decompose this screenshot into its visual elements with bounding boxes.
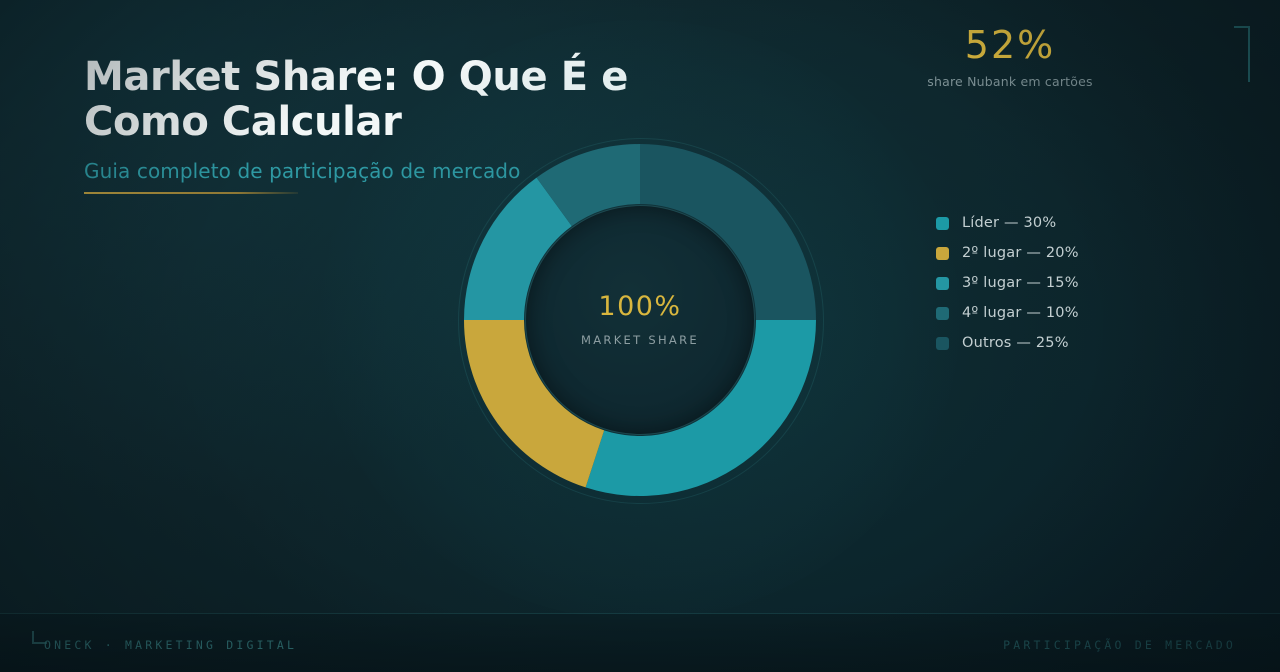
donut-chart: 100% MARKET SHARE <box>440 130 840 510</box>
subtitle-underline-accent <box>84 192 298 194</box>
legend-item-label: 4º lugar — 10% <box>962 305 1079 321</box>
donut-center: 100% MARKET SHARE <box>525 205 755 435</box>
footer-topic: PARTICIPAÇÃO DE MERCADO <box>1003 638 1236 652</box>
legend-item-label: Líder — 30% <box>962 215 1056 231</box>
chart-legend: Líder — 30% 2º lugar — 20% 3º lugar — 15… <box>936 208 1079 358</box>
footer-bar: ONECK · MARKETING DIGITAL PARTICIPAÇÃO D… <box>0 614 1280 672</box>
legend-item[interactable]: Outros — 25% <box>936 328 1079 358</box>
legend-swatch-icon <box>936 337 949 350</box>
footer-brand: ONECK · MARKETING DIGITAL <box>44 638 297 652</box>
donut-center-value: 100% <box>598 293 681 320</box>
legend-item[interactable]: 2º lugar — 20% <box>936 238 1079 268</box>
legend-item[interactable]: 3º lugar — 15% <box>936 268 1079 298</box>
legend-item[interactable]: 4º lugar — 10% <box>936 298 1079 328</box>
donut-center-label: MARKET SHARE <box>581 333 699 347</box>
legend-item[interactable]: Líder — 30% <box>936 208 1079 238</box>
corner-bracket-decoration <box>1234 26 1250 82</box>
legend-swatch-icon <box>936 307 949 320</box>
stat-caption: share Nubank em cartões <box>900 74 1120 89</box>
slide-canvas: Market Share: O Que É e Como Calcular Gu… <box>0 0 1280 672</box>
stat-block: 52% share Nubank em cartões <box>900 26 1120 89</box>
legend-item-label: 2º lugar — 20% <box>962 245 1079 261</box>
legend-swatch-icon <box>936 247 949 260</box>
stat-value: 52% <box>900 26 1120 64</box>
legend-item-label: Outros — 25% <box>962 335 1069 351</box>
legend-swatch-icon <box>936 277 949 290</box>
legend-item-label: 3º lugar — 15% <box>962 275 1079 291</box>
legend-swatch-icon <box>936 217 949 230</box>
